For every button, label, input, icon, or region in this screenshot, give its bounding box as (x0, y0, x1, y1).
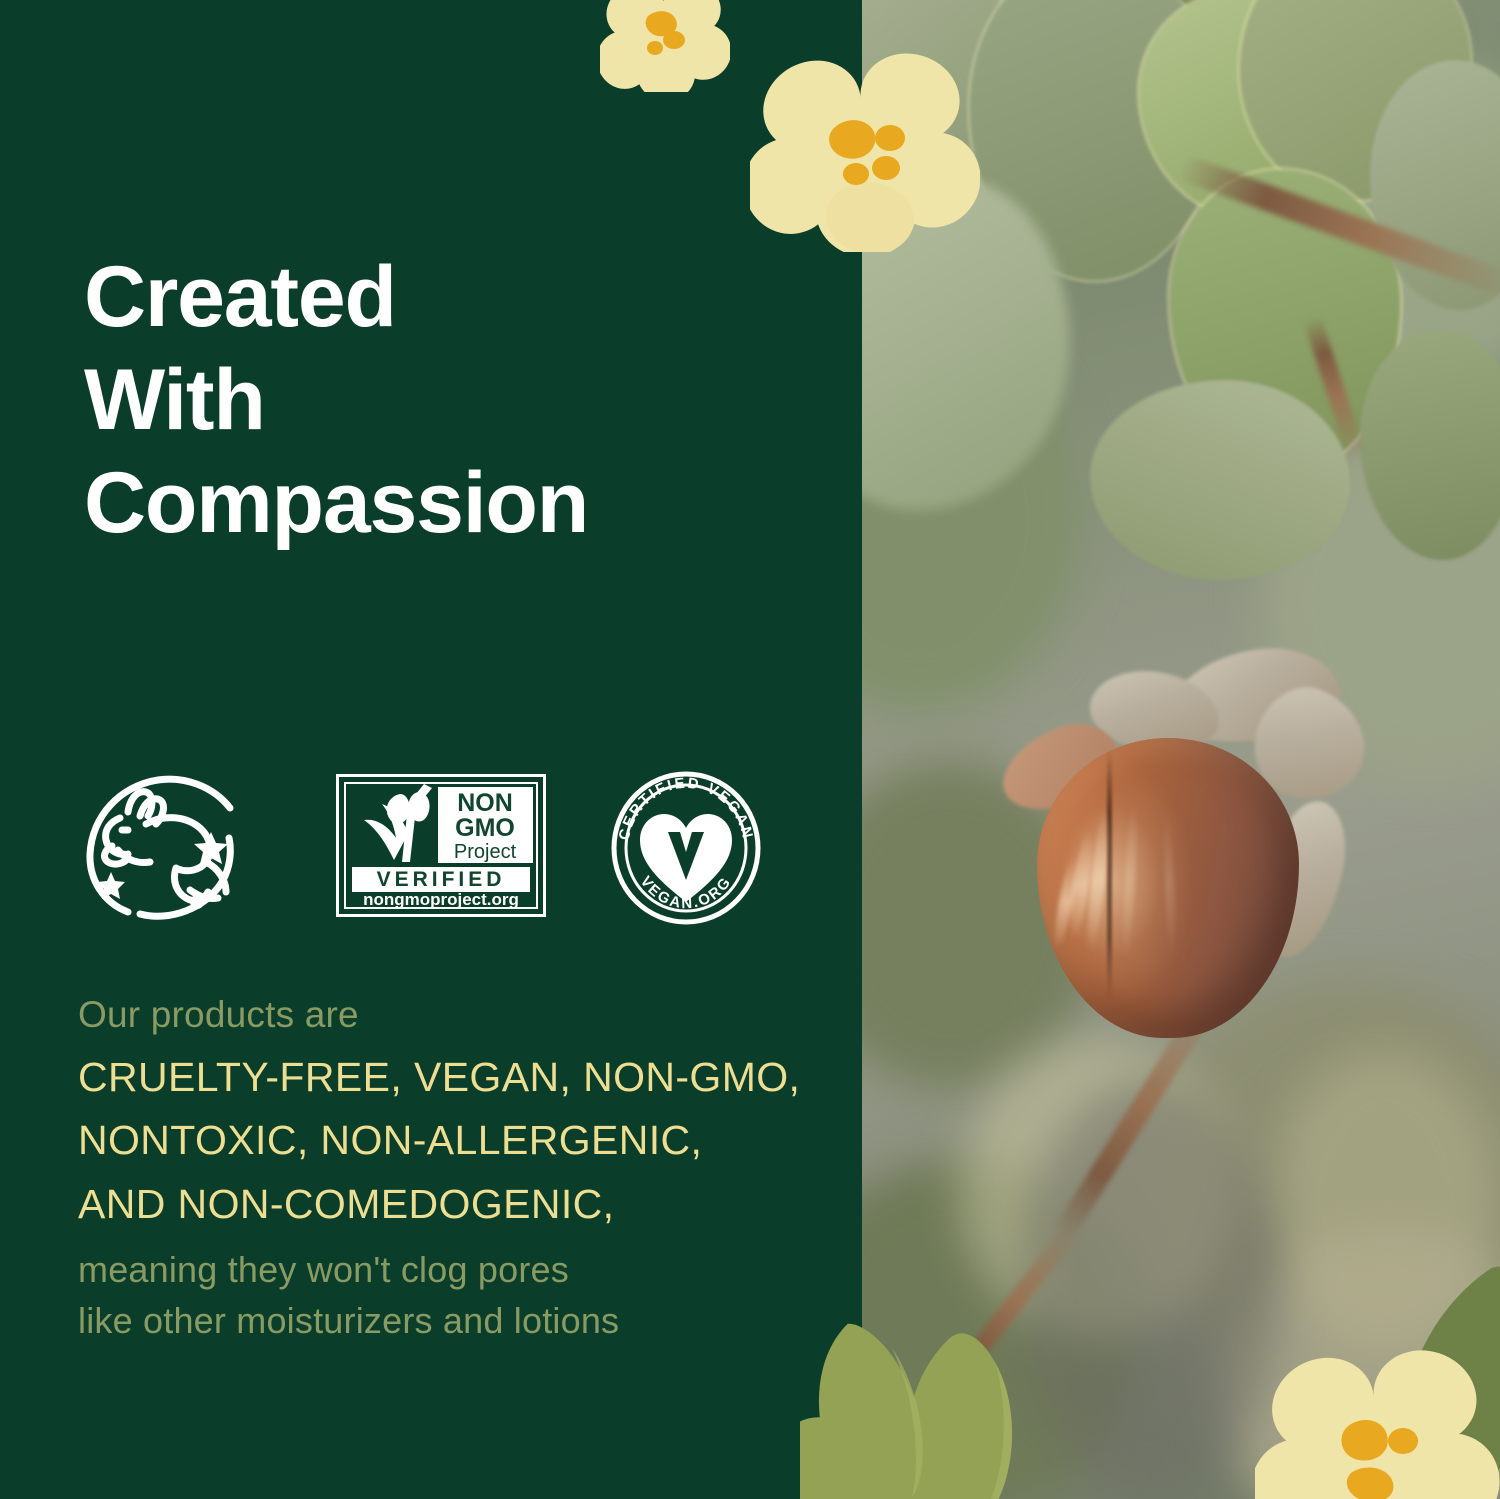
flower-bottom-right (1255, 1345, 1500, 1499)
headline-line-3: Compassion (84, 452, 824, 555)
copy-intro: Our products are (78, 988, 858, 1042)
claim-line: NONTOXIC, NON-ALLERGENIC, (78, 1109, 858, 1173)
non-gmo-badge: NON GMO Project VERIFIED nongmoproject.o… (336, 774, 546, 922)
marketing-banner: Created With Compassion (0, 0, 1500, 1499)
non-gmo-verified: VERIFIED (377, 868, 506, 891)
non-gmo-line-3: Project (454, 841, 517, 863)
flower-top-left (600, 0, 730, 92)
claim-line: AND NON-COMEDOGENIC, (78, 1173, 858, 1237)
leaping-bunny-icon: ® (80, 772, 265, 922)
outro-line: meaning they won't clog pores (78, 1244, 858, 1295)
certified-vegan-icon: CERTIFIED VEGAN VEGAN.ORG (606, 770, 766, 925)
certified-vegan-badge: CERTIFIED VEGAN VEGAN.ORG (606, 770, 766, 930)
non-gmo-url: nongmoproject.org (363, 890, 519, 909)
registered-mark: ® (194, 900, 200, 908)
non-gmo-project-verified-icon: NON GMO Project VERIFIED nongmoproject.o… (336, 774, 546, 917)
copy-outro: meaning they won't clog pores like other… (78, 1244, 858, 1346)
flower-top-main (750, 52, 980, 252)
non-gmo-line-1: NON (457, 789, 513, 817)
copy-claims: CRUELTY-FREE, VEGAN, NON-GMO, NONTOXIC, … (78, 1046, 858, 1237)
leaping-bunny-badge: ® (80, 772, 265, 927)
claim-line: CRUELTY-FREE, VEGAN, NON-GMO, (78, 1046, 858, 1110)
non-gmo-line-2: GMO (455, 814, 515, 842)
headline-line-2: With (84, 349, 824, 452)
outro-line: like other moisturizers and lotions (78, 1295, 858, 1346)
bottom-leaf-cluster (800, 1230, 1220, 1499)
body-copy: Our products are CRUELTY-FREE, VEGAN, NO… (78, 988, 858, 1347)
headline-line-1: Created (84, 246, 824, 349)
certification-badge-row: ® NON GMO Project (78, 770, 808, 930)
page-title: Created With Compassion (84, 246, 824, 556)
